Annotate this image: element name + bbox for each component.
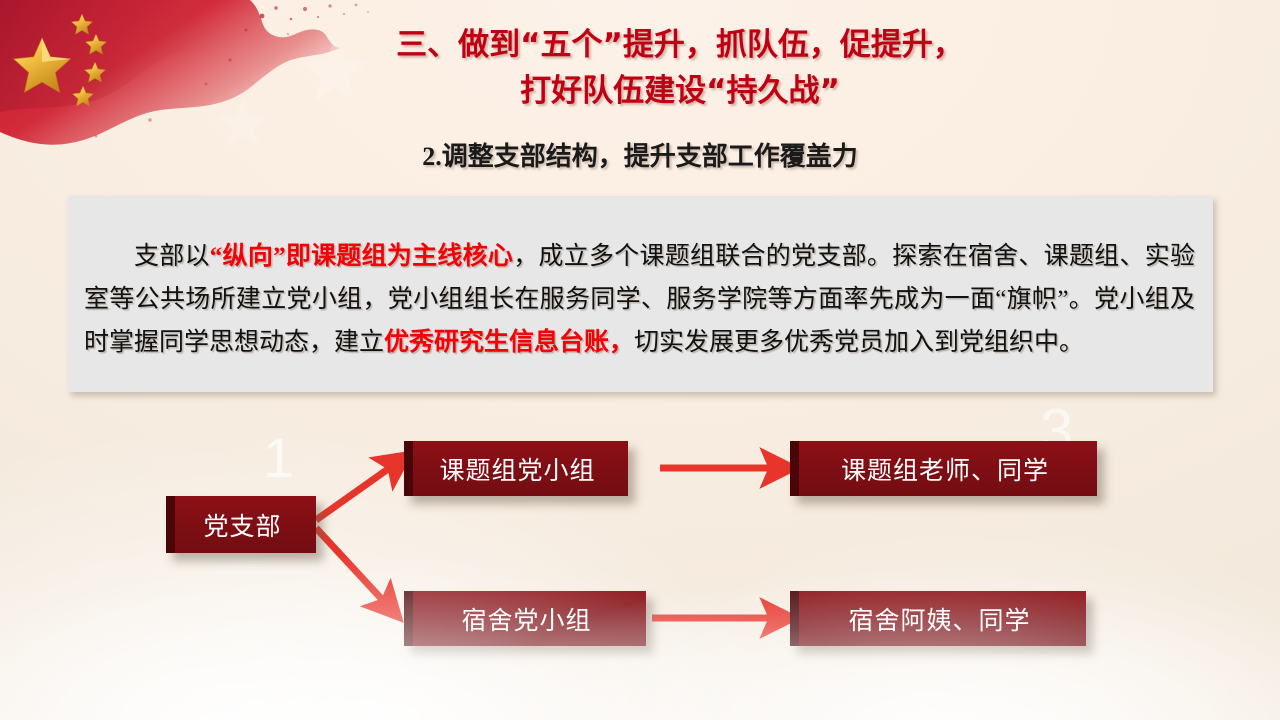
body-paragraph: 支部以“纵向”即课题组为主线核心，成立多个课题组联合的党支部。探索在宿舍、课题组… [84, 235, 1195, 364]
body-highlight-1: “纵向”即课题组为主线核心 [210, 243, 513, 270]
body-segment-3: 切实发展更多优秀党员加入到党组织中。 [634, 329, 1084, 356]
page-subtitle: 2.调整支部结构，提升支部工作覆盖力 [240, 136, 1040, 173]
node-research-people-label: 课题组老师、同学 [841, 451, 1049, 487]
body-highlight-2: 优秀研究生信息台账， [384, 329, 634, 356]
page-title-line-1: 三、做到“五个”提升，抓队伍，促提升， [300, 22, 1060, 68]
node-dorm-group[interactable]: 宿舍党小组 [404, 591, 646, 646]
node-party-branch-label: 党支部 [203, 507, 281, 543]
body-text-panel: 支部以“纵向”即课题组为主线核心，成立多个课题组联合的党支部。探索在宿舍、课题组… [68, 196, 1213, 392]
node-research-people[interactable]: 课题组老师、同学 [790, 441, 1097, 496]
arrow-branch-to-research-group [316, 462, 398, 520]
arrow-branch-to-dorm-group [316, 528, 390, 608]
node-research-group-label: 课题组党小组 [439, 451, 595, 487]
body-segment-1: 支部以 [134, 243, 210, 270]
node-dorm-people-label: 宿舍阿姨、同学 [848, 601, 1030, 637]
org-structure-diagram: 1 3 党支部 课题组党小组 课题组老师、同学 [0, 400, 1280, 720]
slide-canvas: 三、做到“五个”提升，抓队伍，促提升， 打好队伍建设“持久战” 2.调整支部结构… [0, 0, 1280, 720]
page-title: 三、做到“五个”提升，抓队伍，促提升， 打好队伍建设“持久战” [300, 22, 1060, 114]
node-dorm-group-label: 宿舍党小组 [461, 601, 591, 637]
node-party-branch[interactable]: 党支部 [166, 496, 316, 553]
node-dorm-people[interactable]: 宿舍阿姨、同学 [790, 591, 1086, 646]
page-title-line-2: 打好队伍建设“持久战” [300, 68, 1060, 114]
node-research-group[interactable]: 课题组党小组 [404, 441, 628, 496]
